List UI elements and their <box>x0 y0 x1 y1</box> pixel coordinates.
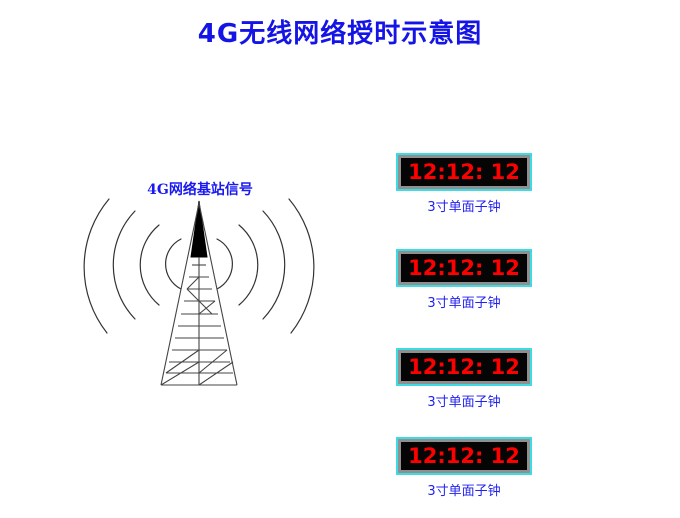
clock-time: 12:12: 12 <box>408 357 520 378</box>
clock-time: 12:12: 12 <box>408 446 520 467</box>
tower-leg-left <box>161 203 199 385</box>
clock-screen: 12:12: 12 <box>398 350 530 384</box>
clock-display-frame: 12:12: 12 <box>396 437 532 475</box>
clock-caption: 3寸单面子钟 <box>396 292 532 311</box>
diagram-canvas: 4G无线网络授时示意图 4G网络基站信号 <box>0 0 680 518</box>
wave-arc-left-1 <box>166 239 181 289</box>
wave-arc-right-1 <box>217 239 232 289</box>
clock-unit[interactable]: 12:12: 12 3寸单面子钟 <box>396 249 532 311</box>
wave-arc-right-2 <box>239 225 258 305</box>
wave-arc-left-2 <box>140 225 159 305</box>
cell-tower-icon <box>55 165 345 405</box>
clock-unit[interactable]: 12:12: 12 3寸单面子钟 <box>396 153 532 215</box>
clock-screen: 12:12: 12 <box>398 155 530 189</box>
clock-caption: 3寸单面子钟 <box>396 391 532 410</box>
clock-time: 12:12: 12 <box>408 258 520 279</box>
clock-screen: 12:12: 12 <box>398 251 530 285</box>
wave-arc-left-4 <box>84 199 109 333</box>
clock-unit[interactable]: 12:12: 12 3寸单面子钟 <box>396 348 532 410</box>
clock-caption: 3寸单面子钟 <box>396 480 532 499</box>
clock-caption: 3寸单面子钟 <box>396 196 532 215</box>
clock-screen: 12:12: 12 <box>398 439 530 473</box>
clock-unit[interactable]: 12:12: 12 3寸单面子钟 <box>396 437 532 499</box>
base-station-group: 4G网络基站信号 <box>55 165 345 405</box>
clock-time: 12:12: 12 <box>408 162 520 183</box>
clock-display-frame: 12:12: 12 <box>396 348 532 386</box>
wave-arc-left-3 <box>113 211 135 319</box>
page-title: 4G无线网络授时示意图 <box>0 18 680 50</box>
wave-arc-right-4 <box>289 199 314 333</box>
wave-arc-right-3 <box>263 211 285 319</box>
clock-display-frame: 12:12: 12 <box>396 249 532 287</box>
clock-display-frame: 12:12: 12 <box>396 153 532 191</box>
tower-brace <box>187 277 199 289</box>
